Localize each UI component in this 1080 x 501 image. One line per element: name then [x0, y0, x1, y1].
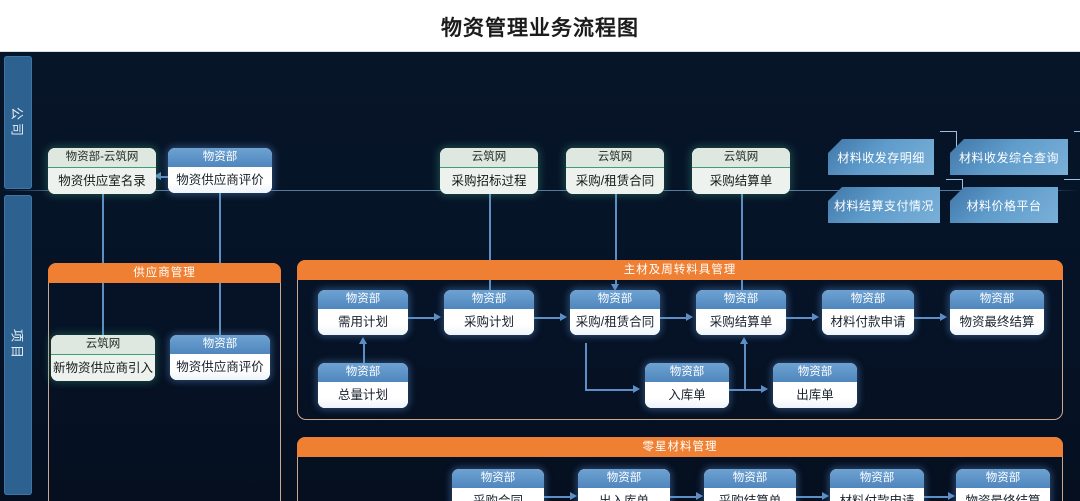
- node-body: 采购/租赁合同: [570, 309, 660, 335]
- panel-p-sundry: 零星材料管理: [297, 437, 1063, 501]
- panel-title: 供应商管理: [48, 263, 281, 283]
- node-z1[interactable]: 物资部采购合同: [452, 469, 544, 501]
- node-body: 采购结算单: [704, 488, 796, 501]
- node-header: 物资部: [570, 290, 660, 309]
- node-header: 物资部: [452, 469, 544, 488]
- page-header: 物资管理业务流程图: [0, 0, 1080, 52]
- node-s2[interactable]: 物资部物资供应商评价: [170, 335, 270, 380]
- node-c2[interactable]: 物资部物资供应商评价: [168, 148, 272, 193]
- corner-bracket-icon: [1074, 131, 1080, 148]
- node-z2[interactable]: 物资部出入库单: [578, 469, 670, 501]
- banner-b1[interactable]: 材料收发存明细: [828, 139, 934, 175]
- node-body: 采购/租赁合同: [566, 168, 664, 194]
- node-body: 采购合同: [452, 488, 544, 501]
- node-header: 物资部-云筑网: [48, 148, 156, 168]
- node-header: 物资部: [956, 469, 1050, 488]
- node-header: 物资部: [645, 363, 729, 382]
- node-body: 新物资供应商引入: [51, 355, 155, 381]
- panel-title: 零星材料管理: [297, 437, 1063, 457]
- node-header: 物资部: [950, 290, 1044, 309]
- banner-b2[interactable]: 材料收发综合查询: [950, 139, 1068, 175]
- page-title: 物资管理业务流程图: [0, 12, 1080, 42]
- node-s1[interactable]: 云筑网新物资供应商引入: [51, 335, 155, 381]
- node-body: 采购计划: [444, 309, 534, 335]
- node-body: 材料付款申请: [830, 488, 924, 501]
- node-body: 出库单: [773, 382, 857, 408]
- node-header: 云筑网: [440, 148, 538, 168]
- node-body: 物资最终结算: [956, 488, 1050, 501]
- swimlane-project-label: 项目: [9, 329, 28, 361]
- node-c5[interactable]: 云筑网采购结算单: [692, 148, 790, 194]
- node-body: 总量计划: [318, 382, 408, 408]
- node-c1[interactable]: 物资部-云筑网物资供应室名录: [48, 148, 156, 194]
- node-header: 物资部: [696, 290, 786, 309]
- node-header: 物资部: [170, 335, 270, 354]
- node-body: 材料付款申请: [822, 309, 914, 335]
- node-body: 物资供应商评价: [170, 354, 270, 380]
- node-m3[interactable]: 物资部采购/租赁合同: [570, 290, 660, 335]
- node-body: 采购结算单: [696, 309, 786, 335]
- node-header: 物资部: [830, 469, 924, 488]
- swimlane-company: 公司: [4, 56, 32, 189]
- node-m7[interactable]: 物资部总量计划: [318, 363, 408, 408]
- node-m8[interactable]: 物资部入库单: [645, 363, 729, 408]
- node-body: 采购结算单: [692, 168, 790, 194]
- node-body: 采购招标过程: [440, 168, 538, 194]
- node-body: 入库单: [645, 382, 729, 408]
- flowchart-page: 物资管理业务流程图 公司 项目: [0, 0, 1080, 501]
- node-header: 云筑网: [51, 335, 155, 355]
- node-header: 物资部: [773, 363, 857, 382]
- node-body: 物资供应室名录: [48, 168, 156, 194]
- node-c4[interactable]: 云筑网采购/租赁合同: [566, 148, 664, 194]
- node-m6[interactable]: 物资部物资最终结算: [950, 290, 1044, 335]
- node-z5[interactable]: 物资部物资最终结算: [956, 469, 1050, 501]
- swimlane-company-label: 公司: [9, 106, 28, 138]
- node-m5[interactable]: 物资部材料付款申请: [822, 290, 914, 335]
- node-header: 物资部: [168, 148, 272, 167]
- node-header: 云筑网: [692, 148, 790, 168]
- node-m9[interactable]: 物资部出库单: [773, 363, 857, 408]
- node-header: 物资部: [704, 469, 796, 488]
- panel-title: 主材及周转料具管理: [297, 260, 1063, 280]
- corner-bracket-icon: [940, 131, 957, 148]
- panel-p-supplier: 供应商管理: [48, 263, 281, 501]
- node-body: 物资最终结算: [950, 309, 1044, 335]
- node-body: 出入库单: [578, 488, 670, 501]
- node-header: 物资部: [318, 290, 408, 309]
- node-header: 物资部: [444, 290, 534, 309]
- node-c3[interactable]: 云筑网采购招标过程: [440, 148, 538, 194]
- node-header: 物资部: [318, 363, 408, 382]
- corner-bracket-icon: [1064, 179, 1080, 196]
- node-m2[interactable]: 物资部采购计划: [444, 290, 534, 335]
- node-body: 物资供应商评价: [168, 167, 272, 193]
- node-header: 物资部: [578, 469, 670, 488]
- node-body: 需用计划: [318, 309, 408, 335]
- node-header: 云筑网: [566, 148, 664, 168]
- swimlane-project: 项目: [4, 195, 32, 495]
- node-header: 物资部: [822, 290, 914, 309]
- node-z4[interactable]: 物资部材料付款申请: [830, 469, 924, 501]
- banner-b3[interactable]: 材料结算支付情况: [828, 187, 940, 223]
- node-m1[interactable]: 物资部需用计划: [318, 290, 408, 335]
- banner-b4[interactable]: 材料价格平台: [950, 187, 1058, 223]
- diagram-canvas: 公司 项目: [0, 52, 1080, 501]
- node-m4[interactable]: 物资部采购结算单: [696, 290, 786, 335]
- node-z3[interactable]: 物资部采购结算单: [704, 469, 796, 501]
